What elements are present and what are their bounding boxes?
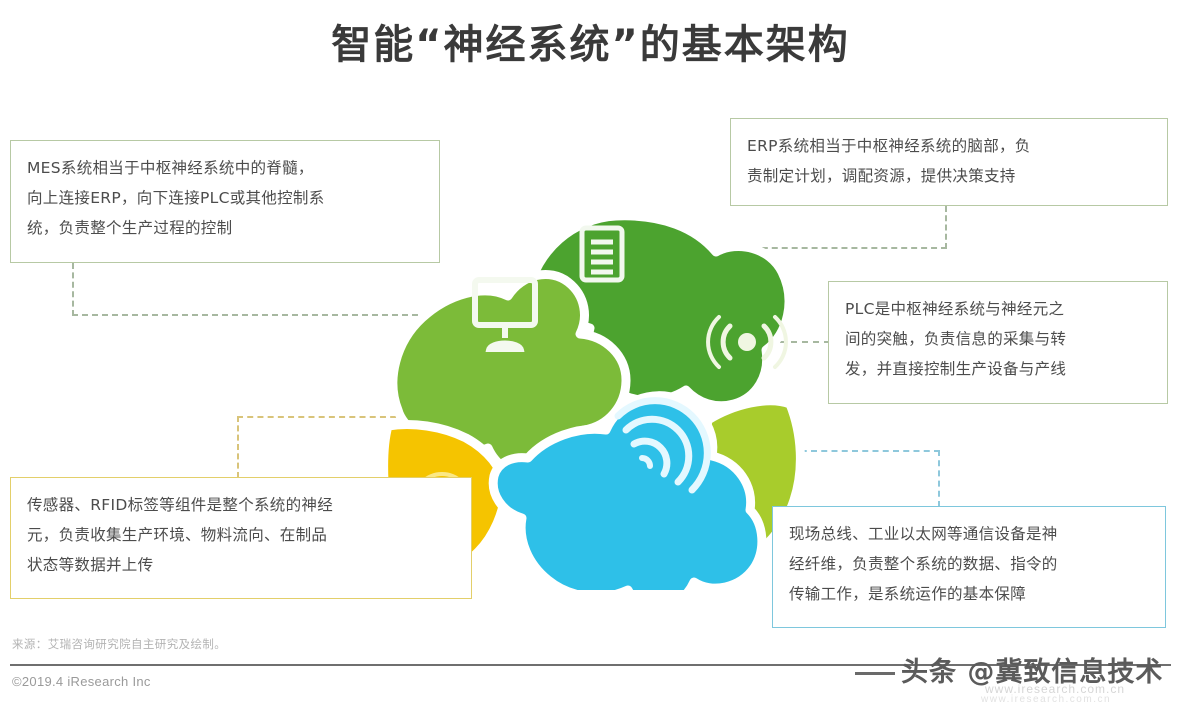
network-callout-line-3: 传输工作，是系统运作的基本保障: [789, 579, 1151, 609]
connector-mes-horizontal: [72, 314, 418, 316]
network-callout-line-2: 经纤维，负责整个系统的数据、指令的: [789, 549, 1151, 579]
infographic-canvas: 智能“神经系统”的基本架构: [0, 0, 1181, 710]
connector-erp-vertical: [945, 206, 947, 249]
connector-sensor-vertical: [237, 416, 239, 478]
erp-callout-line-2: 责制定计划，调配资源，提供决策支持: [747, 161, 1153, 191]
watermark: 头条 @冀致信息技术 www.iresearch.com.cn www.ires…: [855, 642, 1175, 704]
watermark-dash: [855, 672, 895, 675]
plc-callout-line-3: 发，并直接控制生产设备与产线: [845, 354, 1153, 384]
mes-callout-line-3: 统，负责整个生产过程的控制: [27, 213, 425, 243]
sensor-callout-line-2: 元，负责收集生产环境、物料流向、在制品: [27, 520, 457, 550]
copyright-note: ©2019.4 iResearch Inc: [12, 674, 151, 689]
connector-mes-vertical: [72, 263, 74, 316]
plc-callout-line-1: PLC是中枢神经系统与神经元之: [845, 294, 1153, 324]
watermark-url-faint: www.iresearch.com.cn: [981, 694, 1111, 705]
sensor-callout[interactable]: 传感器、RFID标签等组件是整个系统的神经 元，负责收集生产环境、物料流向、在制…: [10, 477, 472, 599]
sensor-callout-line-3: 状态等数据并上传: [27, 550, 457, 580]
network-callout-line-1: 现场总线、工业以太网等通信设备是神: [789, 519, 1151, 549]
connector-network-vertical: [938, 450, 940, 507]
network-callout[interactable]: 现场总线、工业以太网等通信设备是神 经纤维，负责整个系统的数据、指令的 传输工作…: [772, 506, 1166, 628]
source-note: 来源：艾瑞咨询研究院自主研究及绘制。: [12, 636, 226, 652]
erp-callout-line-1: ERP系统相当于中枢神经系统的脑部，负: [747, 131, 1153, 161]
sensor-callout-line-1: 传感器、RFID标签等组件是整个系统的神经: [27, 490, 457, 520]
mes-callout-line-1: MES系统相当于中枢神经系统中的脊髓，: [27, 153, 425, 183]
mes-callout-line-2: 向上连接ERP，向下连接PLC或其他控制系: [27, 183, 425, 213]
erp-callout[interactable]: ERP系统相当于中枢神经系统的脑部，负 责制定计划，调配资源，提供决策支持: [730, 118, 1168, 206]
plc-callout-line-2: 间的突触，负责信息的采集与转: [845, 324, 1153, 354]
page-title: 智能“神经系统”的基本架构: [0, 12, 1181, 70]
mes-callout[interactable]: MES系统相当于中枢神经系统中的脊髓， 向上连接ERP，向下连接PLC或其他控制…: [10, 140, 440, 263]
plc-callout[interactable]: PLC是中枢神经系统与神经元之 间的突触，负责信息的采集与转 发，并直接控制生产…: [828, 281, 1168, 404]
